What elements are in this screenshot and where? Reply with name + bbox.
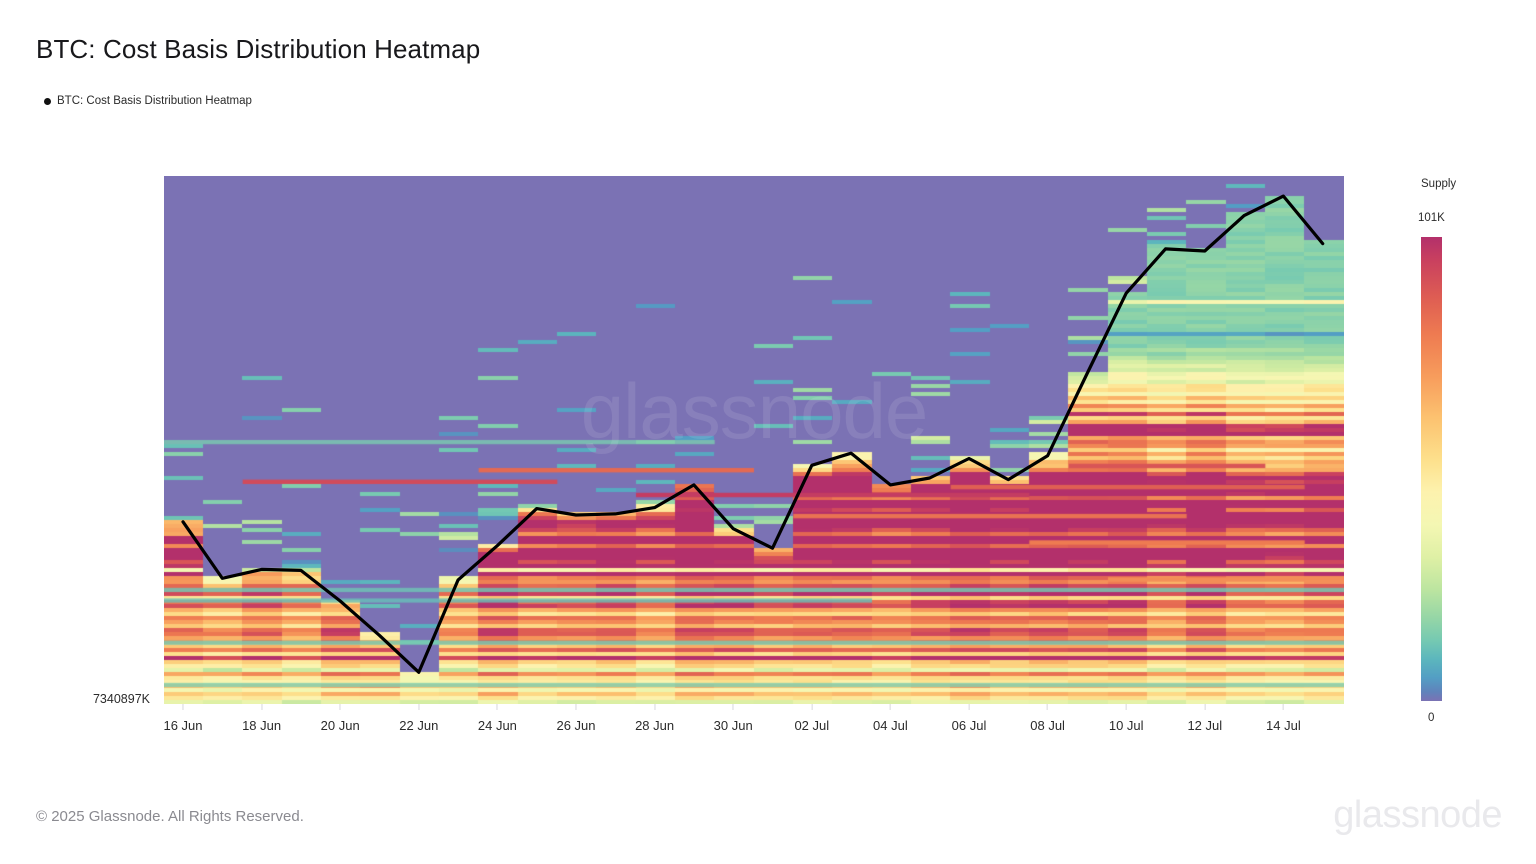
x-axis-tick-label: 22 Jun xyxy=(399,718,438,733)
x-axis-tick-mark xyxy=(575,704,576,710)
x-axis-tick: 04 Jul xyxy=(873,704,908,733)
x-axis-tick: 02 Jul xyxy=(794,704,829,733)
x-axis-tick-label: 24 Jun xyxy=(478,718,517,733)
x-axis-tick-mark xyxy=(497,704,498,710)
colorbar-min-label: 0 xyxy=(1428,712,1434,724)
x-axis-tick-label: 04 Jul xyxy=(873,718,908,733)
chart-legend[interactable]: BTC: Cost Basis Distribution Heatmap xyxy=(44,95,252,107)
y-axis-label: 7340897K xyxy=(93,692,150,706)
x-axis-tick-mark xyxy=(418,704,419,710)
glassnode-logo: glassnode xyxy=(1333,793,1502,839)
x-axis-tick-mark xyxy=(1283,704,1284,710)
x-axis-tick-mark xyxy=(340,704,341,710)
x-axis-tick-mark xyxy=(1204,704,1205,710)
x-axis-tick: 26 Jun xyxy=(556,704,595,733)
x-axis-tick-mark xyxy=(733,704,734,710)
colorbar-title: Supply xyxy=(1421,178,1456,190)
x-axis-tick: 06 Jul xyxy=(952,704,987,733)
x-axis-tick: 12 Jul xyxy=(1187,704,1222,733)
x-axis-tick-label: 10 Jul xyxy=(1109,718,1144,733)
x-axis-tick-mark xyxy=(261,704,262,710)
x-axis-tick-label: 20 Jun xyxy=(321,718,360,733)
x-axis-tick-mark xyxy=(182,704,183,710)
x-axis-tick: 14 Jul xyxy=(1266,704,1301,733)
x-axis-tick-label: 14 Jul xyxy=(1266,718,1301,733)
x-axis-tick-mark xyxy=(1126,704,1127,710)
x-axis-tick-label: 18 Jun xyxy=(242,718,281,733)
x-axis-tick-label: 06 Jul xyxy=(952,718,987,733)
x-axis-tick-mark xyxy=(654,704,655,710)
x-axis-tick-label: 12 Jul xyxy=(1187,718,1222,733)
x-axis-tick: 22 Jun xyxy=(399,704,438,733)
x-axis-tick: 30 Jun xyxy=(714,704,753,733)
x-axis-tick-label: 26 Jun xyxy=(556,718,595,733)
colorbar-max-label: 101K xyxy=(1418,212,1445,224)
footer-copyright: © 2025 Glassnode. All Rights Reserved. xyxy=(36,808,304,825)
price-line-path xyxy=(183,196,1323,672)
x-axis-tick: 08 Jul xyxy=(1030,704,1065,733)
x-axis-tick: 16 Jun xyxy=(163,704,202,733)
x-axis-tick-mark xyxy=(968,704,969,710)
price-line-overlay xyxy=(164,176,1344,704)
x-axis-tick-label: 02 Jul xyxy=(794,718,829,733)
filled-circle-icon xyxy=(44,98,51,105)
legend-item-label: BTC: Cost Basis Distribution Heatmap xyxy=(57,95,252,107)
x-axis-tick-label: 08 Jul xyxy=(1030,718,1065,733)
x-axis-tick: 20 Jun xyxy=(321,704,360,733)
x-axis-tick: 28 Jun xyxy=(635,704,674,733)
x-axis-tick-label: 16 Jun xyxy=(163,718,202,733)
x-axis-tick: 18 Jun xyxy=(242,704,281,733)
x-axis-tick: 24 Jun xyxy=(478,704,517,733)
x-axis-tick-label: 28 Jun xyxy=(635,718,674,733)
colorbar-legend[interactable]: Supply 101K 0 xyxy=(1404,176,1524,736)
page-title: BTC: Cost Basis Distribution Heatmap xyxy=(36,34,480,65)
x-axis-tick-mark xyxy=(1047,704,1048,710)
x-axis-tick-label: 30 Jun xyxy=(714,718,753,733)
colorbar-gradient-bar xyxy=(1421,237,1442,701)
x-axis-tick-mark xyxy=(811,704,812,710)
x-axis: 16 Jun18 Jun20 Jun22 Jun24 Jun26 Jun28 J… xyxy=(164,704,1344,746)
x-axis-tick-mark xyxy=(890,704,891,710)
x-axis-tick: 10 Jul xyxy=(1109,704,1144,733)
heatmap-plot-area[interactable]: glassnode xyxy=(164,176,1344,704)
